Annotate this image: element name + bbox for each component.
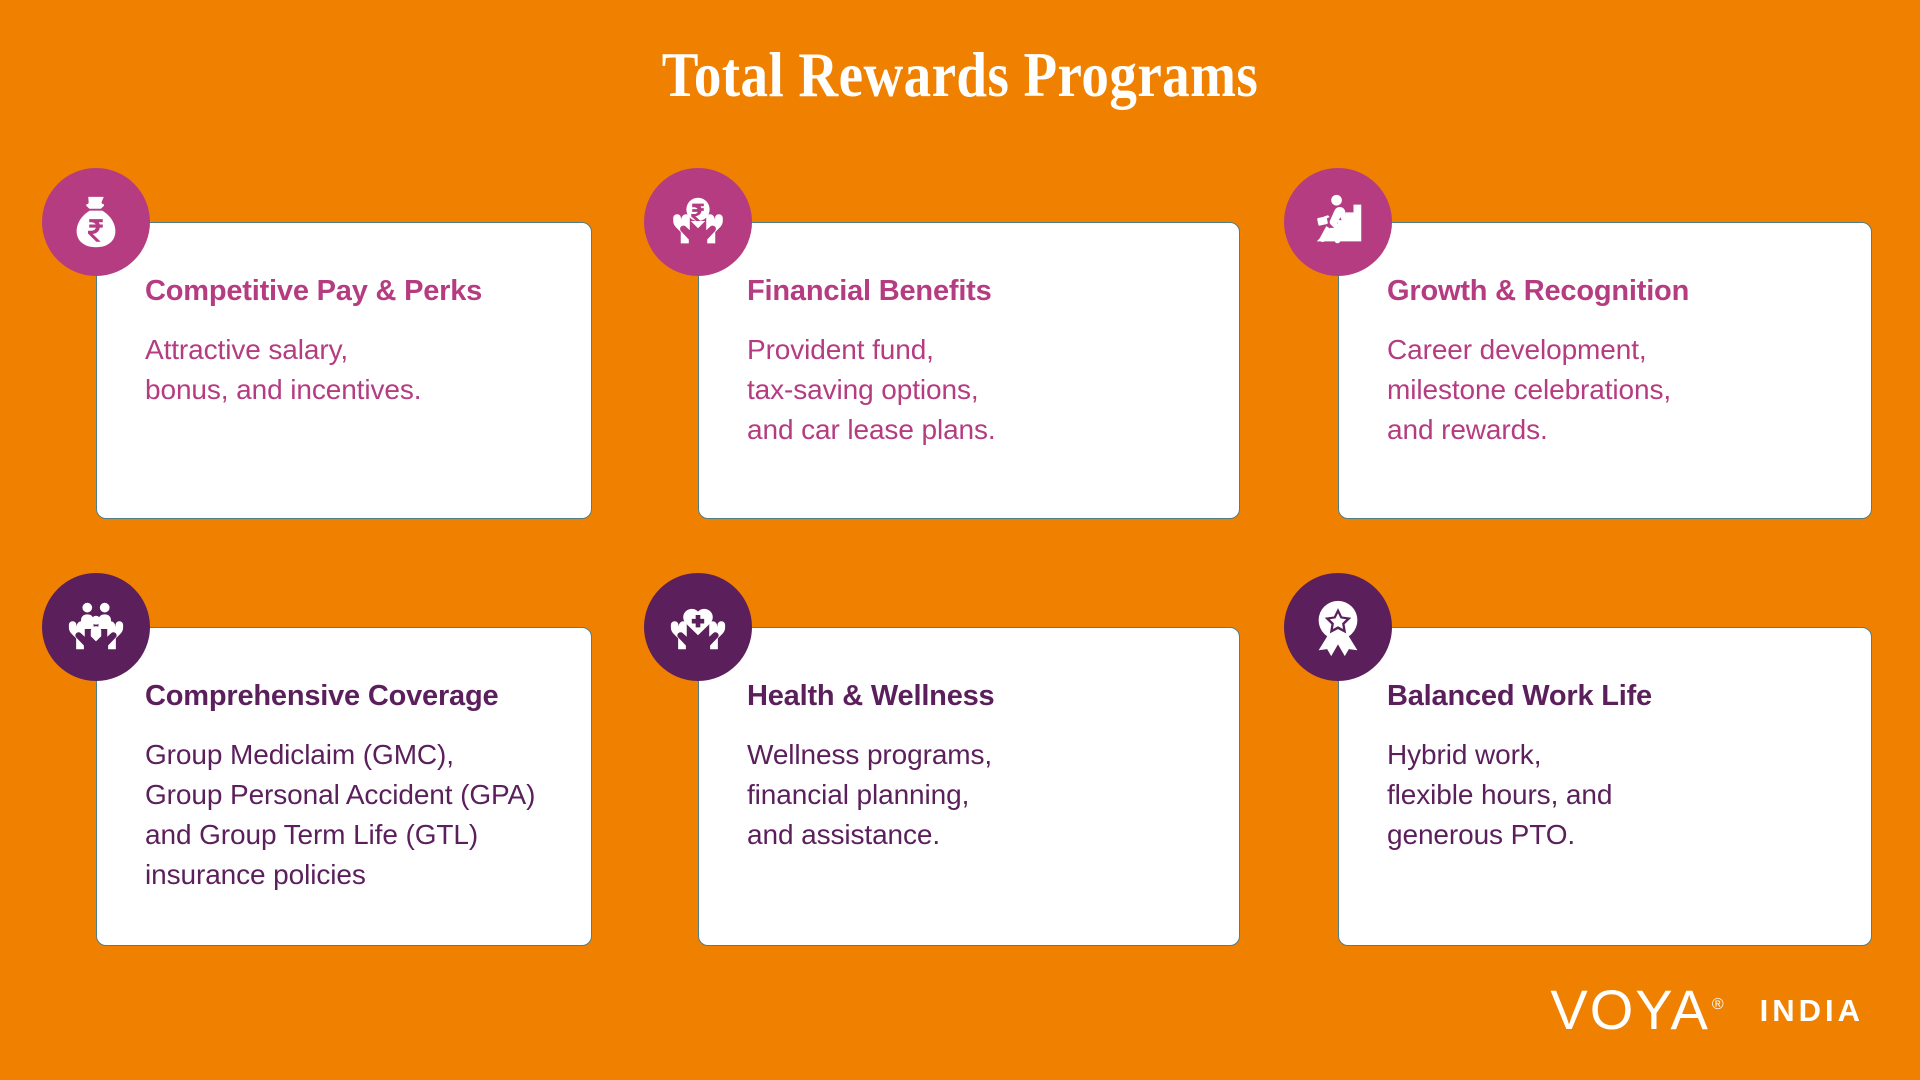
card-body: Career development, milestone celebratio… (1387, 330, 1841, 449)
region-label: INDIA (1760, 995, 1864, 1026)
card-competitive-pay: Competitive Pay & Perks Attractive salar… (96, 222, 592, 519)
award-ribbon-star-icon (1284, 573, 1392, 681)
registered-trademark-icon: ® (1712, 996, 1726, 1013)
card-cell-growth-recognition: Growth & Recognition Career development,… (1280, 160, 1920, 555)
money-bag-rupee-icon (42, 168, 150, 276)
hands-holding-heart-cross-icon (644, 573, 752, 681)
card-body: Hybrid work, flexible hours, and generou… (1387, 735, 1841, 854)
hands-holding-family-icon (42, 573, 150, 681)
card-cell-competitive-pay: Competitive Pay & Perks Attractive salar… (0, 160, 640, 555)
card-heading: Competitive Pay & Perks (145, 275, 561, 308)
card-cell-financial-benefits: Financial Benefits Provident fund, tax-s… (640, 160, 1280, 555)
card-financial-benefits: Financial Benefits Provident fund, tax-s… (698, 222, 1240, 519)
hands-holding-rupee-coin-icon (644, 168, 752, 276)
card-cell-health-wellness: Health & Wellness Wellness programs, fin… (640, 565, 1280, 960)
card-heading: Growth & Recognition (1387, 275, 1841, 308)
card-balanced-work-life: Balanced Work Life Hybrid work, flexible… (1338, 627, 1872, 946)
card-body: Attractive salary, bonus, and incentives… (145, 330, 561, 410)
person-climbing-stairs-icon (1284, 168, 1392, 276)
card-cell-balanced-work-life: Balanced Work Life Hybrid work, flexible… (1280, 565, 1920, 960)
card-health-wellness: Health & Wellness Wellness programs, fin… (698, 627, 1240, 946)
page-title: Total Rewards Programs (134, 38, 1785, 112)
card-heading: Comprehensive Coverage (145, 680, 561, 713)
card-heading: Balanced Work Life (1387, 680, 1841, 713)
card-cell-comprehensive-coverage: Comprehensive Coverage Group Mediclaim (… (0, 565, 640, 960)
brand-footer: VOYA® INDIA (1550, 982, 1864, 1038)
card-body: Provident fund, tax-saving options, and … (747, 330, 1209, 449)
card-body: Group Mediclaim (GMC), Group Personal Ac… (145, 735, 561, 894)
card-body: Wellness programs, financial planning, a… (747, 735, 1209, 854)
card-comprehensive-coverage: Comprehensive Coverage Group Mediclaim (… (96, 627, 592, 946)
card-heading: Financial Benefits (747, 275, 1209, 308)
rewards-card-grid: Competitive Pay & Perks Attractive salar… (0, 160, 1920, 960)
voya-logo: VOYA® (1550, 982, 1725, 1038)
card-growth-recognition: Growth & Recognition Career development,… (1338, 222, 1872, 519)
voya-wordmark: VOYA (1550, 978, 1709, 1041)
card-heading: Health & Wellness (747, 680, 1209, 713)
